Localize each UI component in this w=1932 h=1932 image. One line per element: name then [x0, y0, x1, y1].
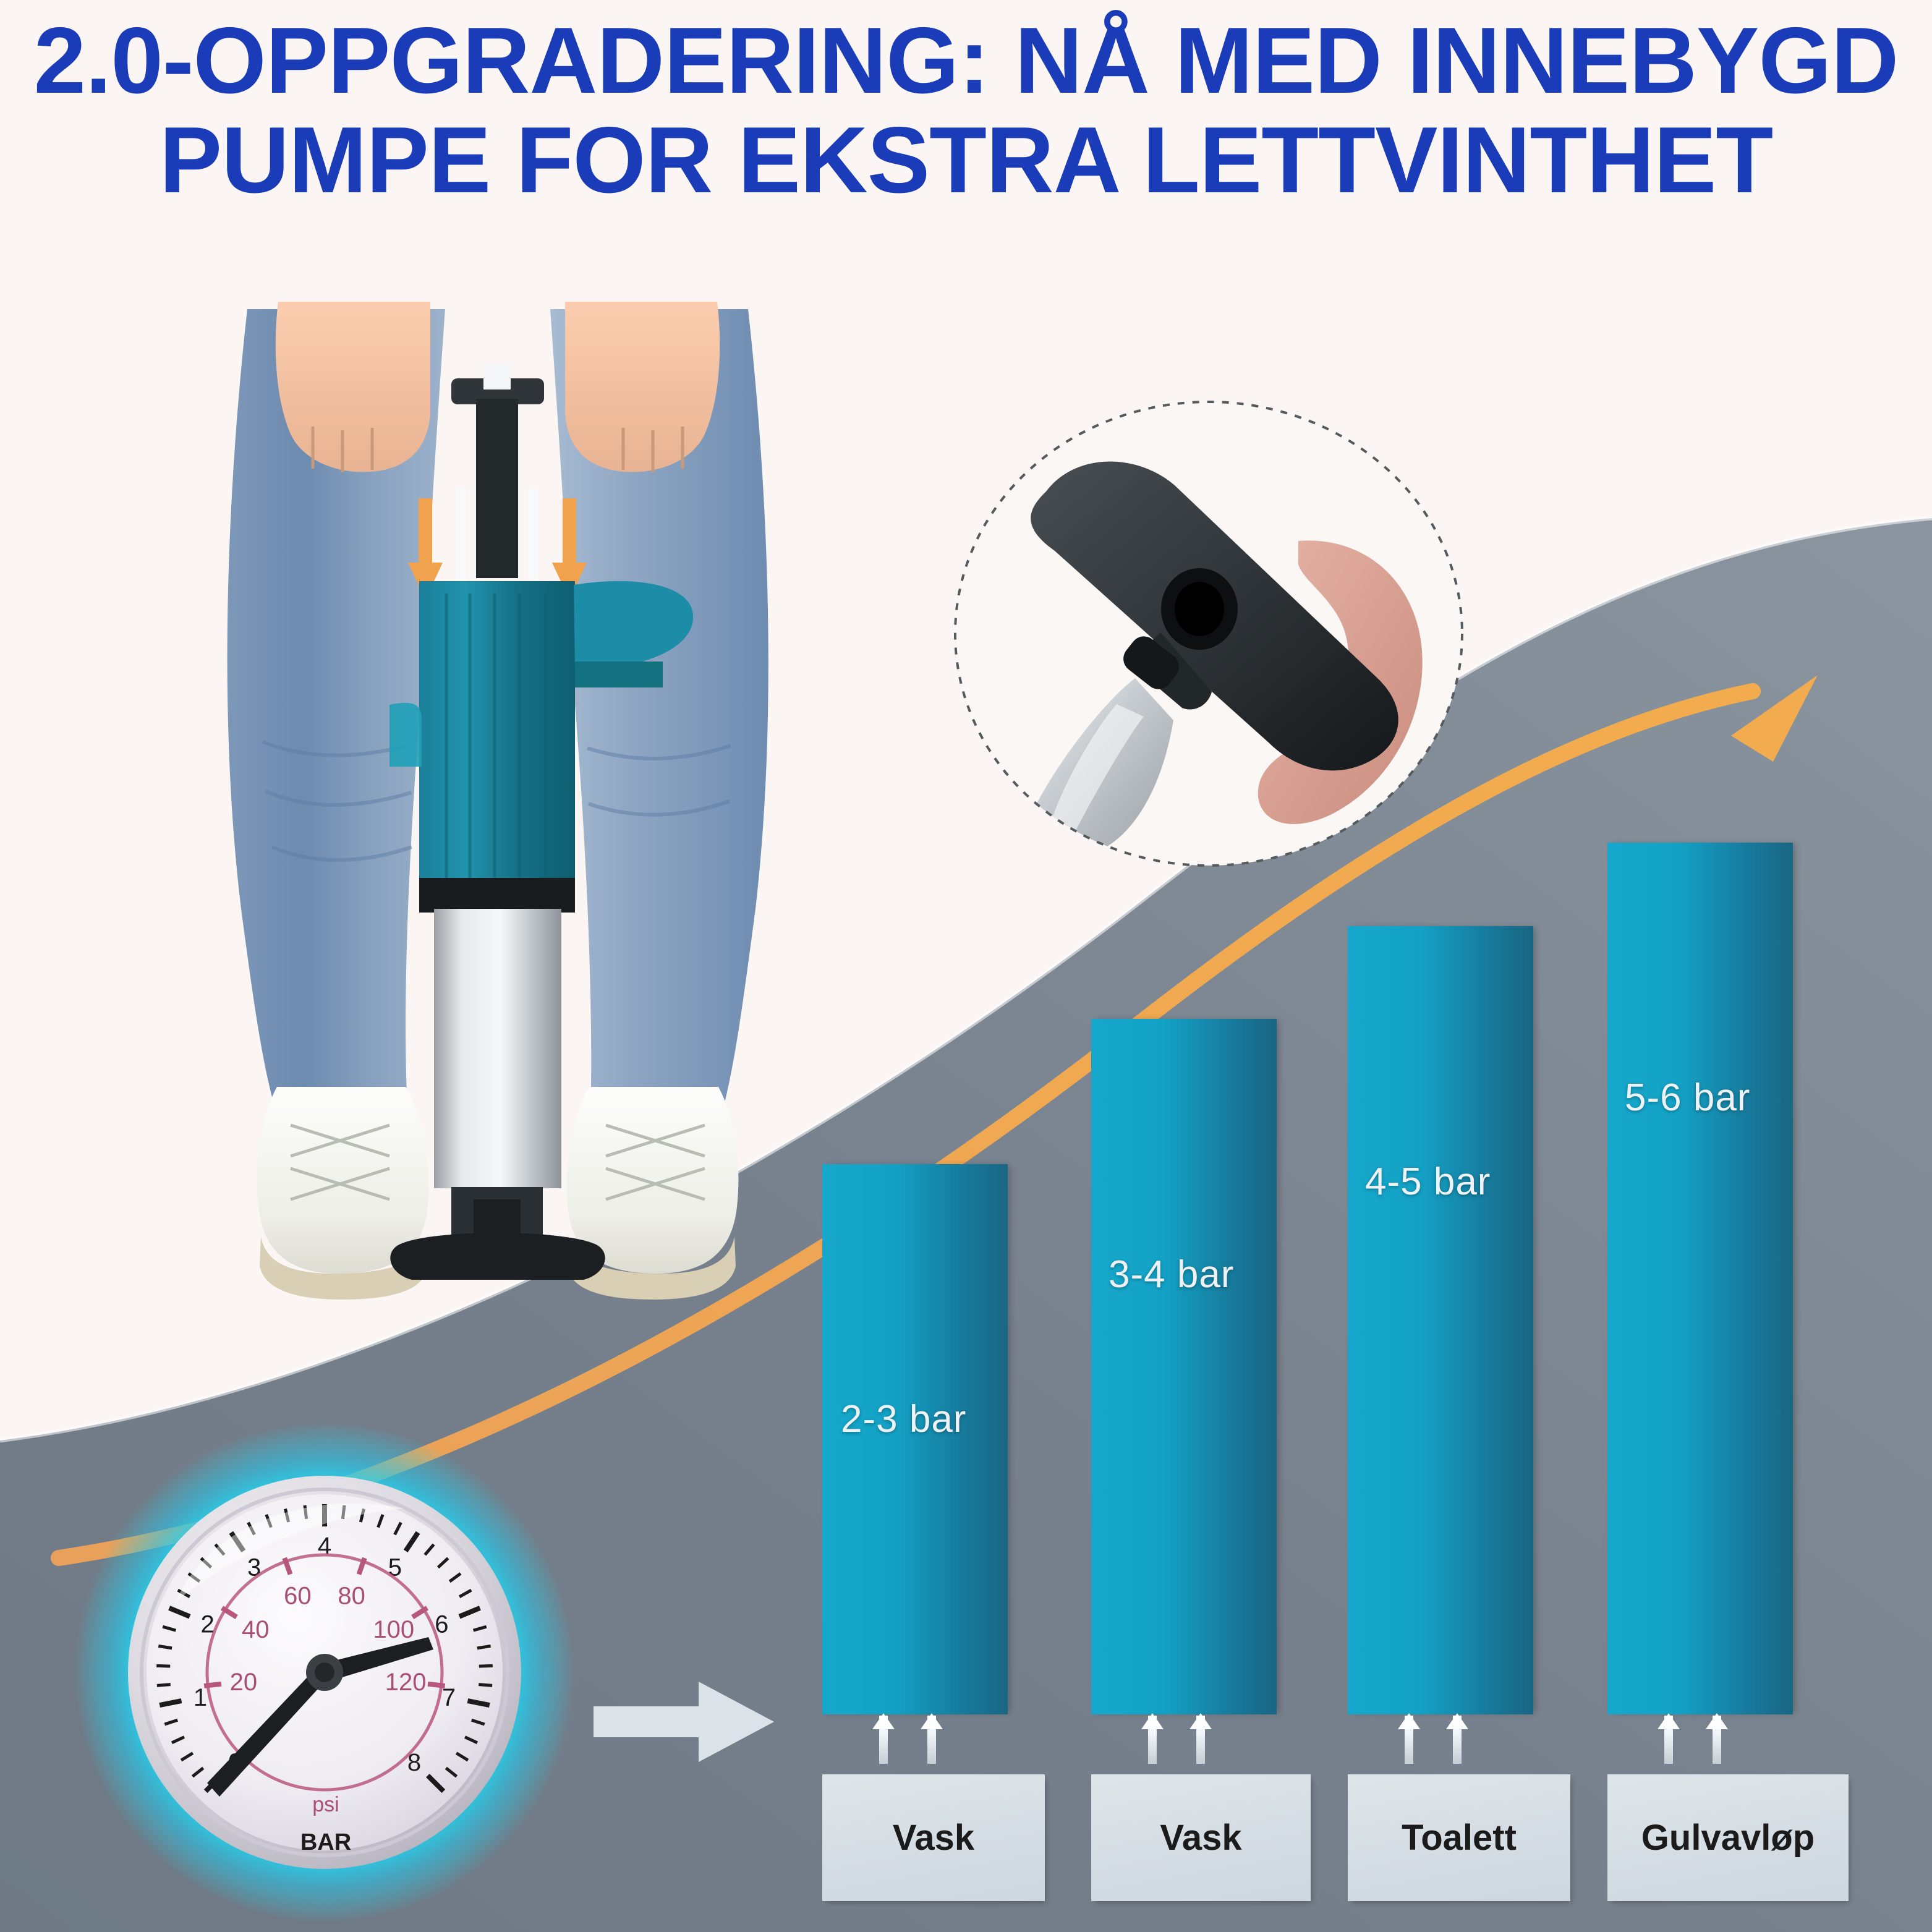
headline-line-1: 2.0-OPPGRADERING: NÅ MED INNEBYGD — [0, 11, 1932, 111]
up-arrow-icon — [1713, 1716, 1721, 1764]
category-label: Toalett — [1402, 1817, 1517, 1858]
headline: 2.0-OPPGRADERING: NÅ MED INNEBYGD PUMPE … — [0, 11, 1932, 210]
headline-line-2: PUMPE FOR EKSTRA LETTVINTHET — [0, 111, 1932, 210]
bar-4 — [1607, 843, 1793, 1714]
uparrows-1 — [866, 1716, 958, 1764]
pressure-gauge: 012345678 20406080100120 psi BAR — [59, 1416, 590, 1929]
pressure-bar-chart: 2-3 bar 3-4 bar 4-5 bar 5-6 bar Vask — [804, 884, 1932, 1932]
up-arrow-icon — [927, 1716, 936, 1764]
right-arrow-icon — [594, 1663, 779, 1781]
bar-label-2: 3-4 bar — [1109, 1253, 1234, 1296]
uparrows-4 — [1651, 1716, 1743, 1764]
bar-label-1: 2-3 bar — [841, 1397, 966, 1441]
bar-label-3: 4-5 bar — [1365, 1160, 1491, 1204]
photo-person-using-drain-pump — [204, 272, 791, 1342]
promo-graphic: 2.0-OPPGRADERING: NÅ MED INNEBYGD PUMPE … — [0, 0, 1932, 1932]
up-arrow-icon — [879, 1716, 888, 1764]
category-label: Gulvavløp — [1641, 1817, 1815, 1858]
category-box-4[interactable]: Gulvavløp — [1607, 1774, 1849, 1901]
svg-text:60: 60 — [284, 1582, 312, 1609]
up-arrow-icon — [1453, 1716, 1462, 1764]
pump-body — [419, 581, 575, 890]
category-box-2[interactable]: Vask — [1091, 1774, 1311, 1901]
pump-barrel — [434, 909, 561, 1188]
pump-photo-illustration — [204, 272, 791, 1342]
uparrows-3 — [1391, 1716, 1484, 1764]
svg-text:40: 40 — [242, 1616, 270, 1643]
up-arrow-icon — [1405, 1716, 1413, 1764]
uparrows-2 — [1134, 1716, 1227, 1764]
gauge-unit-bar: BAR — [300, 1829, 351, 1855]
up-arrow-icon — [1196, 1716, 1205, 1764]
up-arrow-icon — [1664, 1716, 1673, 1764]
svg-text:80: 80 — [338, 1582, 365, 1609]
svg-text:20: 20 — [230, 1669, 258, 1696]
bar-2 — [1091, 1019, 1277, 1714]
svg-text:120: 120 — [385, 1669, 427, 1696]
svg-text:100: 100 — [373, 1616, 414, 1643]
category-label: Vask — [1160, 1817, 1241, 1858]
category-box-1[interactable]: Vask — [822, 1774, 1045, 1901]
inset-pump-adapter-closeup — [952, 399, 1465, 869]
bar-label-4: 5-6 bar — [1625, 1076, 1750, 1120]
gauge-unit-psi: psi — [312, 1793, 339, 1816]
category-label: Vask — [893, 1817, 974, 1858]
bar-3 — [1348, 926, 1533, 1714]
up-arrow-icon — [1148, 1716, 1157, 1764]
category-box-3[interactable]: Toalett — [1348, 1774, 1570, 1901]
